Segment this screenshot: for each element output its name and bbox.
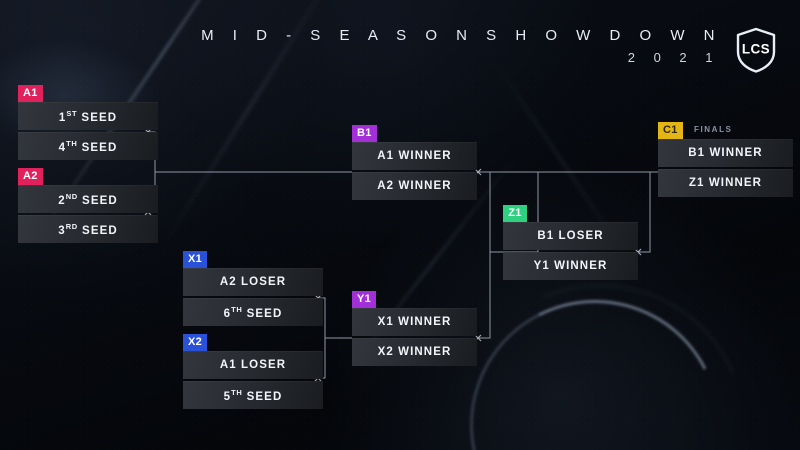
row-label: A2 WINNER	[377, 180, 451, 192]
row-label: A1 LOSER	[220, 359, 286, 371]
bracket-row[interactable]: X2 WINNER	[352, 338, 477, 366]
group-badge-x1: X1	[183, 251, 207, 268]
bracket-row[interactable]: X1 WINNER	[352, 308, 477, 336]
group-rows-a2: 2ND SEED 3RD SEED	[18, 185, 158, 243]
bracket-row[interactable]: B1 WINNER	[658, 139, 793, 167]
row-label: 2ND SEED	[58, 192, 118, 207]
group-badge-a1: A1	[18, 85, 43, 102]
bracket-row[interactable]: 3RD SEED	[18, 215, 158, 243]
group-badge-z1: Z1	[503, 205, 527, 222]
group-badge-c1: C1	[658, 122, 683, 139]
row-label: Z1 WINNER	[689, 177, 762, 189]
bracket-row[interactable]: A2 LOSER	[183, 268, 323, 296]
group-rows-x2: A1 LOSER 5TH SEED	[183, 351, 323, 409]
row-label: A2 LOSER	[220, 276, 286, 288]
group-rows-c1: B1 WINNER Z1 WINNER	[658, 139, 793, 197]
row-label: 6TH SEED	[224, 305, 283, 320]
row-label: B1 LOSER	[537, 230, 603, 242]
group-rows-x1: A2 LOSER 6TH SEED	[183, 268, 323, 326]
bracket-row[interactable]: 1ST SEED	[18, 102, 158, 130]
bracket-row[interactable]: 5TH SEED	[183, 381, 323, 409]
bracket-row[interactable]: Z1 WINNER	[658, 169, 793, 197]
row-label: 5TH SEED	[224, 388, 283, 403]
row-label: Y1 WINNER	[534, 260, 608, 272]
row-label: X2 WINNER	[378, 346, 452, 358]
bracket-row[interactable]: 4TH SEED	[18, 132, 158, 160]
row-label: B1 WINNER	[688, 147, 762, 159]
group-rows-b1: A1 WINNER A2 WINNER	[352, 142, 477, 200]
row-label: 1ST SEED	[59, 109, 117, 124]
bracket-row[interactable]: A1 WINNER	[352, 142, 477, 170]
group-rows-y1: X1 WINNER X2 WINNER	[352, 308, 477, 366]
group-rows-z1: B1 LOSER Y1 WINNER	[503, 222, 638, 280]
finals-label: FINALS	[694, 125, 733, 134]
row-label: 3RD SEED	[58, 222, 118, 237]
bracket-row[interactable]: 6TH SEED	[183, 298, 323, 326]
bracket-row[interactable]: A1 LOSER	[183, 351, 323, 379]
bracket-row[interactable]: 2ND SEED	[18, 185, 158, 213]
group-rows-a1: 1ST SEED 4TH SEED	[18, 102, 158, 160]
row-label: 4TH SEED	[59, 139, 118, 154]
bracket-row[interactable]: Y1 WINNER	[503, 252, 638, 280]
bracket-row[interactable]: A2 WINNER	[352, 172, 477, 200]
group-badge-y1: Y1	[352, 291, 376, 308]
row-label: A1 WINNER	[377, 150, 451, 162]
group-badge-a2: A2	[18, 168, 43, 185]
bracket-page: M I D - S E A S O N S H O W D O W N 2 0 …	[0, 0, 800, 450]
group-badge-x2: X2	[183, 334, 207, 351]
group-badge-b1: B1	[352, 125, 377, 142]
row-label: X1 WINNER	[378, 316, 452, 328]
bracket-row[interactable]: B1 LOSER	[503, 222, 638, 250]
